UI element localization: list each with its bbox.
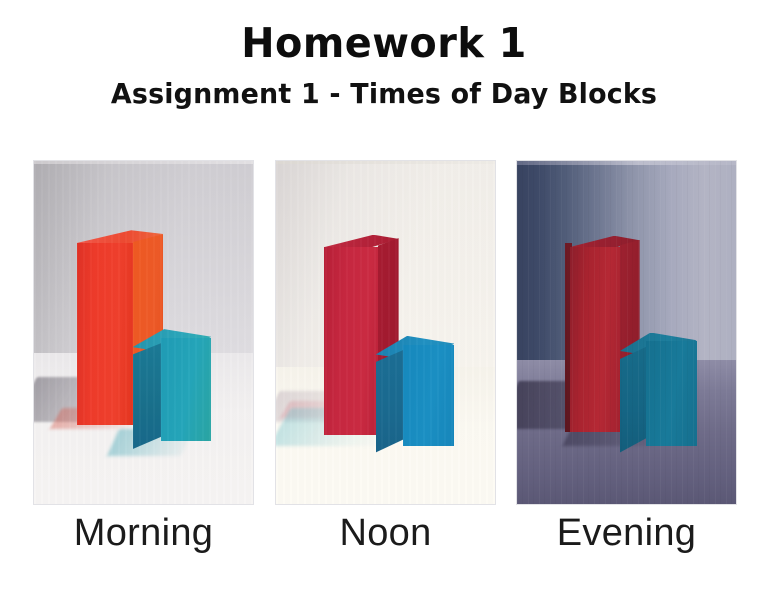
panel-evening[interactable] <box>516 160 737 505</box>
wall-floor-edge-noon <box>276 161 495 164</box>
caption-morning: Morning <box>33 512 254 555</box>
blue-cube-front-noon <box>403 345 454 446</box>
title-block: Homework 1 Assignment 1 - Times of Day B… <box>0 22 768 108</box>
blue-cube-front-evening <box>646 341 696 446</box>
red-block-front-evening <box>570 247 620 432</box>
wall-floor-edge-evening <box>517 161 736 165</box>
blue-cube-side-morning <box>133 343 163 449</box>
painting-morning[interactable] <box>33 160 254 505</box>
page-title: Homework 1 <box>12 22 757 65</box>
caption-evening: Evening <box>516 512 737 555</box>
panel-morning[interactable] <box>33 160 254 505</box>
blue-cube-side-evening <box>620 346 647 452</box>
slide-canvas: Homework 1 Assignment 1 - Times of Day B… <box>0 0 768 600</box>
painting-panels-row <box>33 160 735 505</box>
painting-evening[interactable] <box>516 160 737 505</box>
page-subtitle: Assignment 1 - Times of Day Blocks <box>15 79 752 108</box>
caption-noon: Noon <box>275 512 496 555</box>
wall-floor-edge-morning <box>34 161 253 164</box>
painting-noon[interactable] <box>275 160 496 505</box>
red-block-front-noon <box>324 247 378 436</box>
blue-cube-front-morning <box>161 338 211 441</box>
blue-cube-side-noon <box>376 350 404 453</box>
red-block-front-morning <box>77 243 133 425</box>
panel-noon[interactable] <box>275 160 496 505</box>
